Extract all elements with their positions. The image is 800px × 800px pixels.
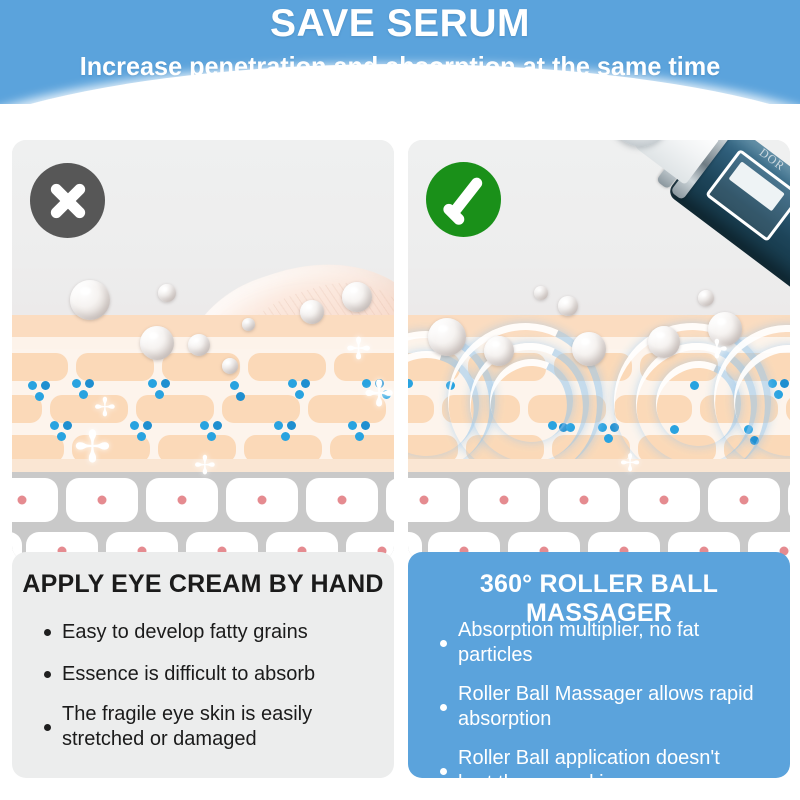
list-item-text: Easy to develop fatty grains (62, 620, 308, 645)
sparkle-icon: ✢ (706, 336, 728, 362)
dermis-base (408, 459, 790, 472)
serum-dot-cluster (148, 379, 182, 403)
serum-pearl (140, 326, 174, 360)
skin-cell (76, 353, 154, 381)
page-title: SAVE SERUM (0, 2, 800, 46)
bullet-dot-icon (44, 629, 51, 636)
sparkle-icon: ✢ (364, 376, 394, 412)
fat-cell (408, 478, 460, 522)
fat-cell (226, 478, 298, 522)
list-item: Easy to develop fatty grains (38, 618, 376, 646)
skin-cell (248, 353, 326, 381)
fat-cell (788, 478, 790, 522)
serum-pearl (70, 280, 110, 320)
sparkle-icon: ✢ (194, 452, 216, 478)
infographic-canvas: SAVE SERUM Increase penetration and abso… (0, 0, 800, 800)
serum-pearl (222, 358, 238, 374)
serum-pearl (534, 286, 548, 300)
sparkle-icon: ✢ (74, 426, 111, 470)
serum-dot-cluster (130, 421, 164, 445)
dermis-layer (12, 349, 394, 459)
fat-cell (386, 478, 394, 522)
sparkle-icon: ✢ (94, 394, 116, 420)
bullet-dot-icon (440, 768, 447, 775)
serum-dot-cluster (348, 421, 382, 445)
list-item-text: Essence is difficult to absorb (62, 662, 315, 687)
serum-pearl (300, 300, 324, 324)
fat-cell (146, 478, 218, 522)
serum-pearl (242, 318, 255, 331)
serum-pearl (648, 326, 680, 358)
serum-dot-cluster (230, 381, 264, 405)
fat-cell (66, 478, 138, 522)
cross-x-icon (30, 163, 105, 238)
bullet-dot-icon (440, 704, 447, 711)
serum-pearl (572, 332, 606, 366)
list-item-text: Roller Ball application doesn't hurt the… (458, 746, 758, 796)
bullet-dot-icon (44, 724, 51, 731)
fat-cell (12, 478, 58, 522)
left-text-card: APPLY EYE CREAM BY HAND Easy to develop … (12, 552, 394, 778)
left-card-bullets: Easy to develop fatty grains Essence is … (38, 618, 376, 766)
left-card-heading: APPLY EYE CREAM BY HAND (12, 570, 394, 599)
bullet-dot-icon (440, 640, 447, 647)
epidermis-band (12, 315, 394, 337)
serum-dot-cluster (288, 379, 322, 403)
serum-pearl (342, 282, 372, 312)
serum-dot-cluster (274, 421, 308, 445)
dermis-layer (408, 349, 790, 459)
header-banner: SAVE SERUM Increase penetration and abso… (0, 0, 800, 104)
bullet-dot-icon (44, 671, 51, 678)
list-item: Essence is difficult to absorb (38, 660, 376, 688)
skin-cell (12, 353, 68, 381)
serum-pearl (158, 284, 176, 302)
right-illustration-panel: DOR (408, 140, 790, 560)
fat-cell (468, 478, 540, 522)
serum-dot-cluster (28, 381, 62, 405)
list-item: The fragile eye skin is easily stretched… (38, 702, 376, 752)
serum-pearl (188, 334, 210, 356)
sparkle-icon: ✢ (346, 335, 371, 365)
list-item: Roller Ball Massager allows rapid absorp… (434, 682, 772, 732)
right-card-bullets: Absorption multiplier, no fat particles … (434, 618, 772, 800)
fat-cell (548, 478, 620, 522)
list-item-text: Roller Ball Massager allows rapid absorp… (458, 682, 758, 732)
sparkle-icon: ✢ (620, 452, 640, 476)
list-item: Roller Ball application doesn't hurt the… (434, 746, 772, 796)
right-text-card: 360° ROLLER BALL MASSAGER Absorption mul… (408, 552, 790, 778)
fat-cell (708, 478, 780, 522)
cell-row-1 (12, 353, 394, 383)
list-item-text: Absorption multiplier, no fat particles (458, 618, 772, 668)
serum-pearl (428, 318, 466, 356)
fat-cell (628, 478, 700, 522)
list-item-text: The fragile eye skin is easily stretched… (62, 702, 362, 752)
check-mark-icon (426, 162, 501, 237)
serum-pearl (558, 296, 578, 316)
roller-ball-shadow (599, 140, 637, 141)
left-illustration-panel: ✢ ✢ ✢ ✢ ✢ (12, 140, 394, 560)
fat-cell (306, 478, 378, 522)
serum-pearl (698, 290, 714, 306)
list-item: Absorption multiplier, no fat particles (434, 618, 772, 668)
serum-pearl (484, 336, 514, 366)
serum-dot-cluster (200, 421, 234, 445)
